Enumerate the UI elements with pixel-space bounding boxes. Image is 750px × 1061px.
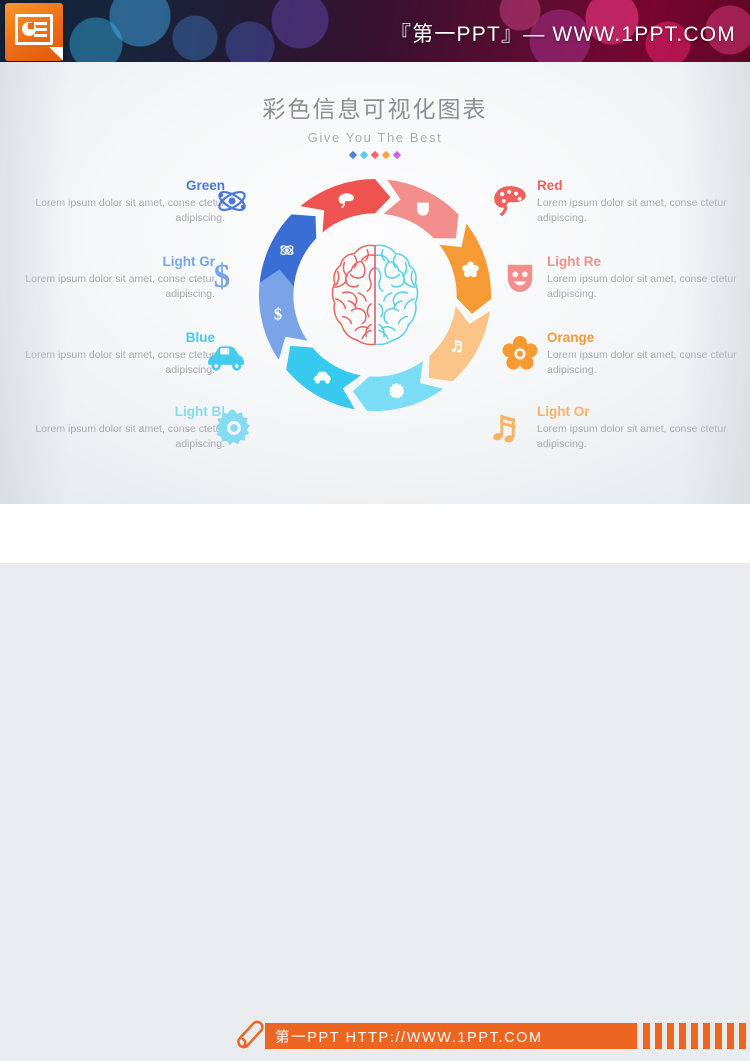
decorative-dots bbox=[0, 152, 750, 158]
decorative-dot bbox=[371, 151, 379, 159]
music-note-icon[interactable] bbox=[489, 406, 531, 448]
footer-stripe bbox=[703, 1023, 710, 1049]
car-icon[interactable] bbox=[203, 334, 249, 380]
palette-icon[interactable] bbox=[489, 180, 531, 222]
item-light-or[interactable]: Light Or Lorem ipsum dolor sit amet, con… bbox=[537, 404, 747, 451]
footer-stripe bbox=[715, 1023, 722, 1049]
flower-icon[interactable] bbox=[499, 332, 541, 374]
item-heading: Light Bl bbox=[15, 404, 225, 420]
footer-url[interactable]: 第一PPT HTTP://WWW.1PPT.COM bbox=[265, 1023, 637, 1049]
gear-icon[interactable] bbox=[212, 406, 256, 450]
logo-line bbox=[34, 34, 47, 37]
ring-segment-dollar[interactable] bbox=[259, 269, 307, 359]
item-orange[interactable]: Orange Lorem ipsum dolor sit amet, conse… bbox=[547, 330, 750, 377]
dollar-icon[interactable]: $ bbox=[202, 256, 242, 296]
item-body: Lorem ipsum dolor sit amet, conse ctetur… bbox=[547, 348, 750, 377]
item-light-gr[interactable]: Light Gr Lorem ipsum dolor sit amet, con… bbox=[5, 254, 215, 301]
decorative-dot bbox=[382, 151, 390, 159]
logo-line bbox=[34, 22, 47, 25]
item-body: Lorem ipsum dolor sit amet, conse ctetur… bbox=[5, 348, 215, 377]
item-body: Lorem ipsum dolor sit amet, conse ctetur… bbox=[537, 196, 747, 225]
item-green[interactable]: Green Lorem ipsum dolor sit amet, conse … bbox=[15, 178, 225, 225]
top-banner: 『第一PPT』— WWW.1PPT.COM bbox=[0, 0, 750, 62]
item-heading: Light Or bbox=[537, 404, 747, 420]
footer-stripe bbox=[727, 1023, 734, 1049]
svg-text:$: $ bbox=[274, 304, 282, 323]
brain-cycle-diagram: $ bbox=[257, 170, 493, 420]
item-light-bl[interactable]: Light Bl Lorem ipsum dolor sit amet, con… bbox=[15, 404, 225, 451]
svg-text:$: $ bbox=[214, 258, 231, 295]
item-heading: Light Re bbox=[547, 254, 750, 270]
slide-body: 彩色信息可视化图表 Give You The Best $ Green Lore… bbox=[0, 62, 750, 504]
item-blue[interactable]: Blue Lorem ipsum dolor sit amet, conse c… bbox=[5, 330, 215, 377]
logo-line bbox=[34, 28, 47, 31]
item-body: Lorem ipsum dolor sit amet, conse ctetur… bbox=[15, 422, 225, 451]
footer-stripe bbox=[643, 1023, 650, 1049]
footer-stripe bbox=[691, 1023, 698, 1049]
item-body: Lorem ipsum dolor sit amet, conse ctetur… bbox=[15, 196, 225, 225]
item-heading: Light Gr bbox=[5, 254, 215, 270]
footer-stripes bbox=[643, 1023, 750, 1049]
slide: 『第一PPT』— WWW.1PPT.COM 彩色信息可视化图表 Give You… bbox=[0, 0, 750, 563]
atom-icon[interactable] bbox=[212, 181, 252, 221]
decorative-dot bbox=[349, 151, 357, 159]
banner-title: 『第一PPT』— WWW.1PPT.COM bbox=[390, 18, 736, 48]
decorative-dot bbox=[393, 151, 401, 159]
slide-frame bbox=[15, 14, 53, 45]
item-body: Lorem ipsum dolor sit amet, conse ctetur… bbox=[537, 422, 747, 451]
page-title: 彩色信息可视化图表 bbox=[0, 90, 750, 124]
powerpoint-document-icon bbox=[5, 3, 63, 61]
dollar-icon: $ bbox=[274, 304, 282, 323]
decorative-dot bbox=[360, 151, 368, 159]
item-heading: Orange bbox=[547, 330, 750, 346]
footer-stripe bbox=[667, 1023, 674, 1049]
footer: 第一PPT HTTP://WWW.1PPT.COM bbox=[0, 504, 750, 563]
brain-hemisphere bbox=[375, 245, 418, 344]
item-heading: Green bbox=[15, 178, 225, 194]
item-body: Lorem ipsum dolor sit amet, conse ctetur… bbox=[547, 272, 750, 301]
mask-icon bbox=[417, 203, 429, 216]
item-red[interactable]: Red Lorem ipsum dolor sit amet, conse ct… bbox=[537, 178, 747, 225]
item-light-re[interactable]: Light Re Lorem ipsum dolor sit amet, con… bbox=[547, 254, 750, 301]
item-heading: Red bbox=[537, 178, 747, 194]
item-body: Lorem ipsum dolor sit amet, conse ctetur… bbox=[5, 272, 215, 301]
page-subtitle: Give You The Best bbox=[0, 130, 750, 145]
footer-stripe bbox=[655, 1023, 662, 1049]
brain-hemisphere bbox=[332, 245, 375, 344]
footer-stripe bbox=[739, 1023, 746, 1049]
footer-stripe bbox=[679, 1023, 686, 1049]
mask-icon[interactable] bbox=[499, 256, 541, 298]
ring-segment-music-note[interactable] bbox=[429, 306, 490, 381]
item-heading: Blue bbox=[5, 330, 215, 346]
